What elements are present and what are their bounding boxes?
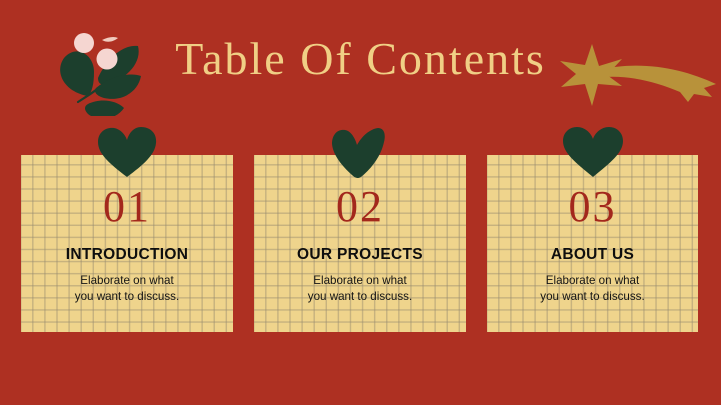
card-content: 02 OUR PROJECTS Elaborate on what you wa…: [254, 155, 466, 332]
contents-card-3[interactable]: 03 ABOUT US Elaborate on what you want t…: [487, 155, 698, 332]
card-number: 01: [21, 185, 233, 229]
card-body-text: Elaborate on what you want to discuss.: [487, 273, 698, 305]
card-body-text: Elaborate on what you want to discuss.: [254, 273, 466, 305]
page-title: Table Of Contents: [0, 36, 721, 82]
card-body-text: Elaborate on what you want to discuss.: [21, 273, 233, 305]
table-of-contents-slide: 01 INTRODUCTION Elaborate on what you wa…: [0, 0, 721, 405]
contents-card-2[interactable]: 02 OUR PROJECTS Elaborate on what you wa…: [254, 155, 466, 332]
card-heading: ABOUT US: [487, 247, 698, 263]
contents-card-1[interactable]: 01 INTRODUCTION Elaborate on what you wa…: [21, 155, 233, 332]
card-content: 03 ABOUT US Elaborate on what you want t…: [487, 155, 698, 332]
card-heading: INTRODUCTION: [21, 247, 233, 263]
card-heading: OUR PROJECTS: [254, 247, 466, 263]
card-content: 01 INTRODUCTION Elaborate on what you wa…: [21, 155, 233, 332]
card-number: 03: [487, 185, 698, 229]
card-number: 02: [254, 185, 466, 229]
